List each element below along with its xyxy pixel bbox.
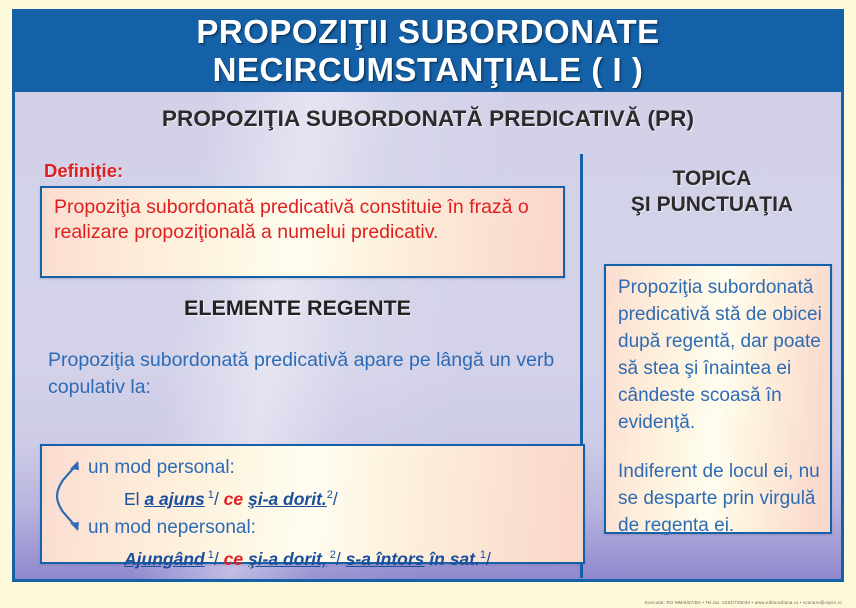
example-token: în sat.	[424, 549, 479, 569]
example-token: /	[333, 489, 338, 509]
publisher-footer: Executat: RO MM/6/87/BA • Tel./ax. 0264/…	[0, 600, 856, 605]
example-sentence-1: El a ajuns 1/ ce şi-a dorit.2/	[88, 481, 578, 514]
example-sentence-2: Ajungând 1/ ce şi-a dorit, 2/ s-a întors…	[88, 541, 578, 574]
definition-text: Propoziţia subordonată predicativă const…	[54, 195, 553, 245]
topica-heading-line-1: TOPICA	[583, 166, 841, 192]
main-panel: PROPOZIŢIA SUBORDONATĂ PREDICATIVĂ (PR) …	[12, 92, 844, 582]
definition-box: Propoziţia subordonată predicativă const…	[40, 186, 565, 278]
example-token: şi-a dorit,	[248, 549, 327, 569]
left-column: Definiţie: Propoziţia subordonată predic…	[15, 144, 580, 580]
example-token: /	[214, 489, 224, 509]
topica-heading-line-2: ŞI PUNCTUAŢIA	[583, 192, 841, 218]
example-token: /	[336, 549, 346, 569]
poster-title-line-2: NECIRCUMSTANŢIALE ( I )	[213, 51, 644, 89]
title-banner: PROPOZIŢII SUBORDONATE NECIRCUMSTANŢIALE…	[12, 9, 844, 92]
example-token: 2	[327, 549, 336, 561]
example-heading-2: un mod nepersonal:	[88, 514, 578, 541]
bracket-fork-icon	[52, 458, 82, 534]
section-title: PROPOZIŢIA SUBORDONATĂ PREDICATIVĂ (PR)	[15, 106, 841, 132]
definition-label: Definiţie:	[44, 160, 123, 182]
example-token: Ajungând	[124, 549, 205, 569]
example-token: ce	[224, 549, 243, 569]
example-token: ce	[224, 489, 243, 509]
example-heading-1: un mod personal:	[88, 454, 578, 481]
paragraph-spacer	[618, 436, 822, 458]
example-token: /	[486, 549, 491, 569]
elemente-regente-heading: ELEMENTE REGENTE	[15, 296, 580, 321]
elemente-regente-text: Propoziţia subordonată predicativă apare…	[48, 347, 568, 401]
examples-list: un mod personal:El a ajuns 1/ ce şi-a do…	[88, 454, 578, 574]
topica-box: Propoziţia subordonată predicativă stă d…	[604, 264, 832, 534]
topica-paragraph-2: Indiferent de locul ei, nu se desparte p…	[618, 458, 822, 539]
poster-title-line-1: PROPOZIŢII SUBORDONATE	[196, 13, 659, 51]
example-token: El	[124, 489, 144, 509]
topica-paragraph-1: Propoziţia subordonată predicativă stă d…	[618, 274, 822, 436]
example-token: /	[214, 549, 224, 569]
right-column: TOPICA ŞI PUNCTUAŢIA Propoziţia subordon…	[583, 144, 844, 580]
example-token: 1	[205, 489, 214, 501]
example-token: s-a întors	[346, 549, 425, 569]
example-token: a ajuns	[144, 489, 204, 509]
example-token: şi-a dorit.	[248, 489, 327, 509]
examples-box: un mod personal:El a ajuns 1/ ce şi-a do…	[40, 444, 585, 564]
topica-heading: TOPICA ŞI PUNCTUAŢIA	[583, 166, 841, 218]
example-token: 1	[205, 549, 214, 561]
poster-root: PROPOZIŢII SUBORDONATE NECIRCUMSTANŢIALE…	[0, 0, 856, 608]
